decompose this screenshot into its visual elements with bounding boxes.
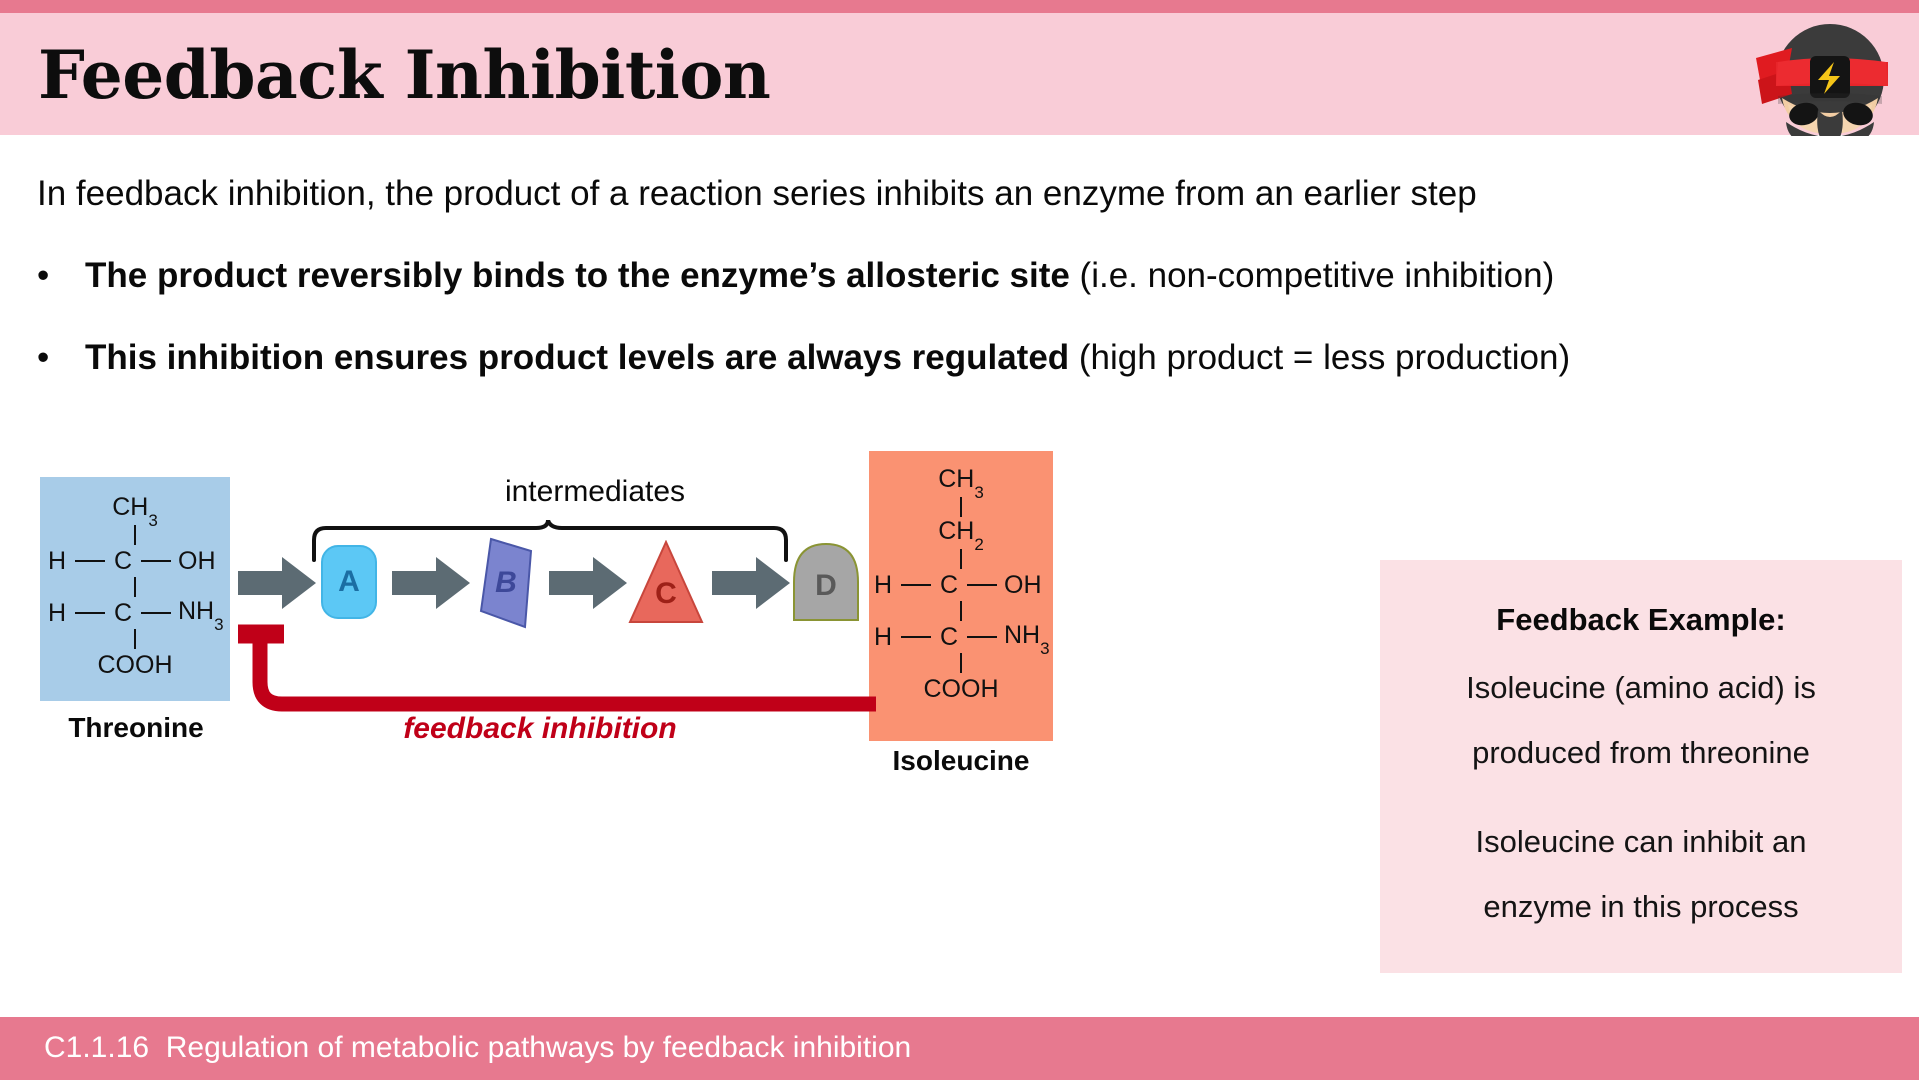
molecule-bond	[134, 629, 136, 649]
page-title: Feedback Inhibition	[38, 32, 1238, 122]
molecule-subscript: 3	[214, 615, 223, 634]
molecule-bond-row	[40, 629, 230, 649]
pathway-arrow-2	[392, 555, 470, 616]
isoleucine-molecule: CH3CH2HCOHHCNH3COOH	[869, 451, 1053, 755]
molecule-bond-row	[869, 497, 1053, 517]
molecule-bond	[134, 577, 136, 597]
molecule-subscript: 3	[974, 483, 983, 502]
bullet-1-normal: (i.e. non-competitive inhibition)	[1070, 256, 1554, 295]
molecule-atom: C	[938, 625, 960, 650]
bullet-item-2: •This inhibition ensures product levels …	[37, 336, 1570, 380]
molecule-bond	[960, 549, 962, 569]
bullet-2-bold: This inhibition ensures product levels a…	[85, 338, 1069, 377]
pathway-step-D: D	[790, 542, 862, 627]
threonine-molecule: CH3HCOHHCNH3COOH	[40, 477, 230, 717]
molecule-row: HCNH3	[869, 621, 1053, 653]
molecule-subscript: 3	[148, 511, 157, 530]
footer-description: Regulation of metabolic pathways by feed…	[166, 1031, 911, 1064]
pathway-step-D-label: D	[790, 550, 862, 622]
intro-text: In feedback inhibition, the product of a…	[37, 174, 1477, 213]
bullet-marker-icon: •	[37, 254, 85, 298]
molecule-bond	[967, 636, 997, 638]
molecule-row: CH3	[869, 465, 1053, 497]
molecule-bond-row	[40, 577, 230, 597]
feedback-inhibition-label: feedback inhibition	[330, 712, 750, 746]
molecule-row: CH3	[40, 493, 230, 525]
molecule-atom: COOH	[924, 677, 999, 702]
molecule-row: CH2	[869, 517, 1053, 549]
molecule-bond	[901, 636, 931, 638]
molecule-bond	[141, 560, 171, 562]
pathway-step-A: A	[320, 544, 378, 625]
feedback-example-line-1: Isoleucine (amino acid) is	[1380, 670, 1902, 706]
pathway-step-C-label: C	[628, 564, 704, 624]
molecule-atom: NH3	[1004, 623, 1050, 652]
intro-paragraph: In feedback inhibition, the product of a…	[37, 172, 1477, 216]
pathway-arrow-3	[549, 555, 627, 616]
bullet-2-normal: (high product = less production)	[1069, 338, 1570, 377]
molecule-atom: COOH	[98, 653, 173, 678]
molecule-atom: C	[112, 601, 134, 626]
molecule-bond	[960, 497, 962, 517]
bullet-1-bold: The product reversibly binds to the enzy…	[85, 256, 1070, 295]
molecule-bond-row	[869, 653, 1053, 673]
molecule-row: HCOH	[869, 569, 1053, 601]
footer-code: C1.1.16	[44, 1031, 149, 1064]
intermediates-label: intermediates	[455, 475, 735, 509]
molecule-atom: CH2	[938, 519, 984, 548]
threonine-structure-box: CH3HCOHHCNH3COOH	[40, 477, 230, 701]
molecule-bond	[134, 525, 136, 545]
molecule-atom: CH3	[112, 495, 158, 524]
molecule-bond	[75, 560, 105, 562]
isoleucine-label: Isoleucine	[850, 745, 1072, 777]
feedback-example-line-2: produced from threonine	[1380, 735, 1902, 771]
bullet-marker-icon: •	[37, 336, 85, 380]
molecule-bond	[75, 612, 105, 614]
feedback-example-line-4: enzyme in this process	[1380, 889, 1902, 925]
footer-caption: C1.1.16 Regulation of metabolic pathways…	[44, 1031, 911, 1065]
molecule-row: HCNH3	[40, 597, 230, 629]
molecule-row: HCOH	[40, 545, 230, 577]
header-accent-strip	[0, 0, 1919, 13]
molecule-atom: CH3	[938, 467, 984, 496]
molecule-bond	[141, 612, 171, 614]
molecule-atom: C	[938, 573, 960, 598]
pathway-step-A-label: A	[320, 544, 378, 620]
pathway-arrow-1	[238, 555, 316, 616]
molecule-row: COOH	[40, 649, 230, 681]
molecule-row: COOH	[869, 673, 1053, 705]
molecule-atom: H	[872, 573, 894, 598]
molecule-subscript: 2	[974, 535, 983, 554]
molecule-atom: H	[46, 601, 68, 626]
molecule-bond	[960, 601, 962, 621]
molecule-bond	[960, 653, 962, 673]
ninja-head-icon	[1748, 18, 1908, 136]
molecule-bond-row	[40, 525, 230, 545]
molecule-atom: C	[112, 549, 134, 574]
bullet-item-1: •The product reversibly binds to the enz…	[37, 254, 1554, 298]
feedback-example-heading: Feedback Example:	[1380, 602, 1902, 638]
pathway-step-C: C	[628, 540, 704, 629]
pathway-arrow-4	[712, 555, 790, 616]
molecule-atom: OH	[178, 549, 224, 574]
molecule-atom: NH3	[178, 599, 224, 628]
molecule-atom: H	[46, 549, 68, 574]
feedback-example-panel: Feedback Example: Isoleucine (amino acid…	[1380, 560, 1902, 973]
molecule-bond	[967, 584, 997, 586]
isoleucine-structure-box: CH3CH2HCOHHCNH3COOH	[869, 451, 1053, 741]
molecule-subscript: 3	[1040, 639, 1049, 658]
pathway-step-B-label: B	[473, 537, 539, 629]
feedback-inhibition-diagram: CH3HCOHHCNH3COOH Threonine intermediates…	[0, 440, 1370, 1000]
threonine-label: Threonine	[20, 712, 252, 744]
feedback-example-line-3: Isoleucine can inhibit an	[1380, 824, 1902, 860]
molecule-bond-row	[869, 549, 1053, 569]
molecule-bond	[901, 584, 931, 586]
molecule-bond-row	[869, 601, 1053, 621]
molecule-atom: OH	[1004, 573, 1050, 598]
